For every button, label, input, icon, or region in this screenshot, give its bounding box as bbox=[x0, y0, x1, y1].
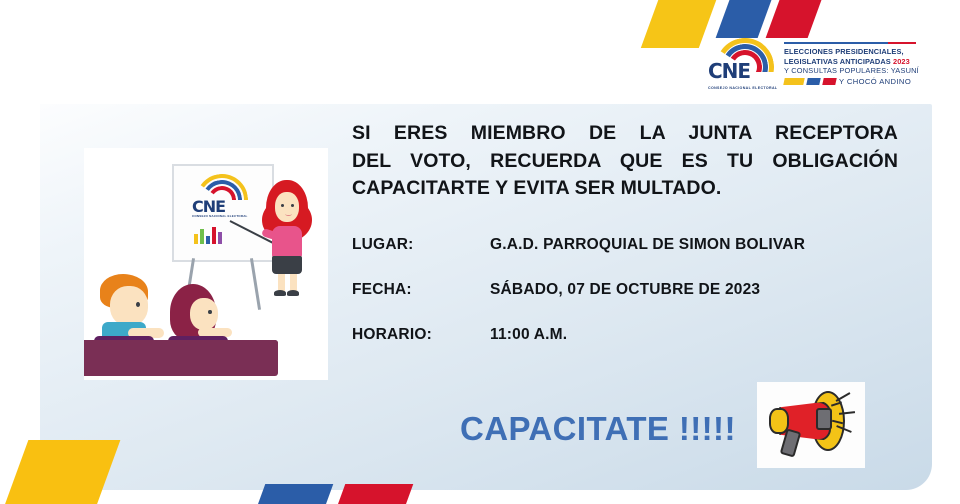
detail-label-horario: HORARIO: bbox=[352, 326, 490, 344]
headline-line-1: SI ERES MIEMBRO DE LA JUNTA RECEPTORA bbox=[352, 120, 898, 148]
headline-line-3: CAPACITARTE Y EVITA SER MULTADO. bbox=[352, 175, 898, 203]
detail-value-fecha: SÁBADO, 07 DE OCTUBRE DE 2023 bbox=[490, 281, 760, 299]
cne-logo-lockup: CNE CONSEJO NACIONAL ELECTORAL ELECCIONE… bbox=[706, 38, 916, 90]
megaphone-icon bbox=[757, 382, 865, 468]
cne-rainbow-icon: CNE CONSEJO NACIONAL ELECTORAL bbox=[706, 38, 778, 90]
campaign-line-2-text: LEGISLATIVAS ANTICIPADAS bbox=[784, 57, 893, 66]
flag-stripe-yellow-bottom-left bbox=[0, 440, 120, 504]
flipchart-bar-chart-icon bbox=[194, 226, 222, 244]
desk bbox=[84, 340, 278, 376]
student-female-face bbox=[190, 298, 218, 330]
bar-yellow bbox=[194, 234, 198, 244]
flag-stripe-blue-bottom-left bbox=[251, 484, 334, 504]
megaphone-image bbox=[757, 382, 865, 468]
headline-line-2: DEL VOTO, RECUERDA QUE ES TU OBLIGACIÓN bbox=[352, 148, 898, 176]
student-male-face bbox=[110, 286, 148, 326]
detail-row-fecha: FECHA: SÁBADO, 07 DE OCTUBRE DE 2023 bbox=[352, 281, 898, 299]
instructor-eye-left bbox=[281, 204, 284, 207]
instructor-blouse bbox=[272, 226, 302, 258]
detail-row-horario: HORARIO: 11:00 A.M. bbox=[352, 326, 898, 344]
instructor-skirt bbox=[272, 256, 302, 274]
student-male-figure bbox=[98, 274, 160, 344]
poster-canvas: CNE CONSEJO NACIONAL ELECTORAL ELECCIONE… bbox=[0, 0, 960, 504]
call-to-action-text: CAPACITATE !!!!! bbox=[460, 410, 736, 448]
cne-acronym: CNE bbox=[708, 61, 750, 81]
flag-stripe-red-bottom-left bbox=[331, 484, 414, 504]
page-title: SI ERES MIEMBRO DE LA JUNTA RECEPTORA DE… bbox=[352, 120, 898, 203]
bar-purple bbox=[218, 232, 222, 244]
instructor-shoe-right bbox=[287, 290, 299, 296]
detail-value-horario: 11:00 A.M. bbox=[490, 326, 567, 344]
cne-full-name: CONSEJO NACIONAL ELECTORAL bbox=[708, 86, 777, 90]
campaign-line-3: Y CONSULTAS POPULARES: YASUNÍ bbox=[784, 66, 916, 76]
campaign-year: 2023 bbox=[893, 57, 910, 66]
campaign-banner: ELECCIONES PRESIDENCIALES, LEGISLATIVAS … bbox=[784, 42, 916, 86]
training-illustration: CNE CONSEJO NACIONAL ELECTORAL bbox=[84, 148, 328, 380]
bar-green bbox=[200, 229, 204, 244]
swatch-blue-icon bbox=[806, 78, 820, 85]
swatch-yellow-icon bbox=[783, 78, 804, 85]
campaign-line-2: LEGISLATIVAS ANTICIPADAS 2023 bbox=[784, 57, 916, 67]
bar-red bbox=[212, 227, 216, 244]
campaign-line-1: ELECCIONES PRESIDENCIALES, bbox=[784, 47, 916, 57]
megaphone-mouthpiece bbox=[816, 408, 832, 430]
flipchart-board: CNE CONSEJO NACIONAL ELECTORAL bbox=[172, 164, 274, 262]
megaphone-sound-ray-2 bbox=[839, 411, 855, 415]
detail-row-lugar: LUGAR: G.A.D. PARROQUIAL DE SIMON BOLIVA… bbox=[352, 236, 898, 254]
student-female-figure bbox=[170, 284, 232, 344]
student-male-eye bbox=[136, 302, 140, 307]
flipchart-cne-full-name: CONSEJO NACIONAL ELECTORAL bbox=[192, 214, 248, 218]
campaign-flag-row: Y CHOCÓ ANDINO bbox=[784, 77, 916, 86]
student-female-eye bbox=[208, 310, 212, 314]
instructor-mouth bbox=[285, 212, 292, 216]
detail-value-lugar: G.A.D. PARROQUIAL DE SIMON BOLIVAR bbox=[490, 236, 805, 254]
detail-label-fecha: FECHA: bbox=[352, 281, 490, 299]
swatch-red-icon bbox=[822, 78, 836, 85]
instructor-face bbox=[275, 192, 299, 222]
campaign-line-4: Y CHOCÓ ANDINO bbox=[839, 77, 911, 86]
flag-stripe-red-top-right bbox=[766, 0, 833, 38]
detail-label-lugar: LUGAR: bbox=[352, 236, 490, 254]
event-details: LUGAR: G.A.D. PARROQUIAL DE SIMON BOLIVA… bbox=[352, 236, 898, 371]
instructor-figure bbox=[260, 180, 314, 298]
instructor-shoe-left bbox=[274, 290, 286, 296]
bar-blue bbox=[206, 236, 210, 244]
flipchart-cne-acronym: CNE bbox=[192, 199, 225, 215]
instructor-eye-right bbox=[291, 204, 294, 207]
